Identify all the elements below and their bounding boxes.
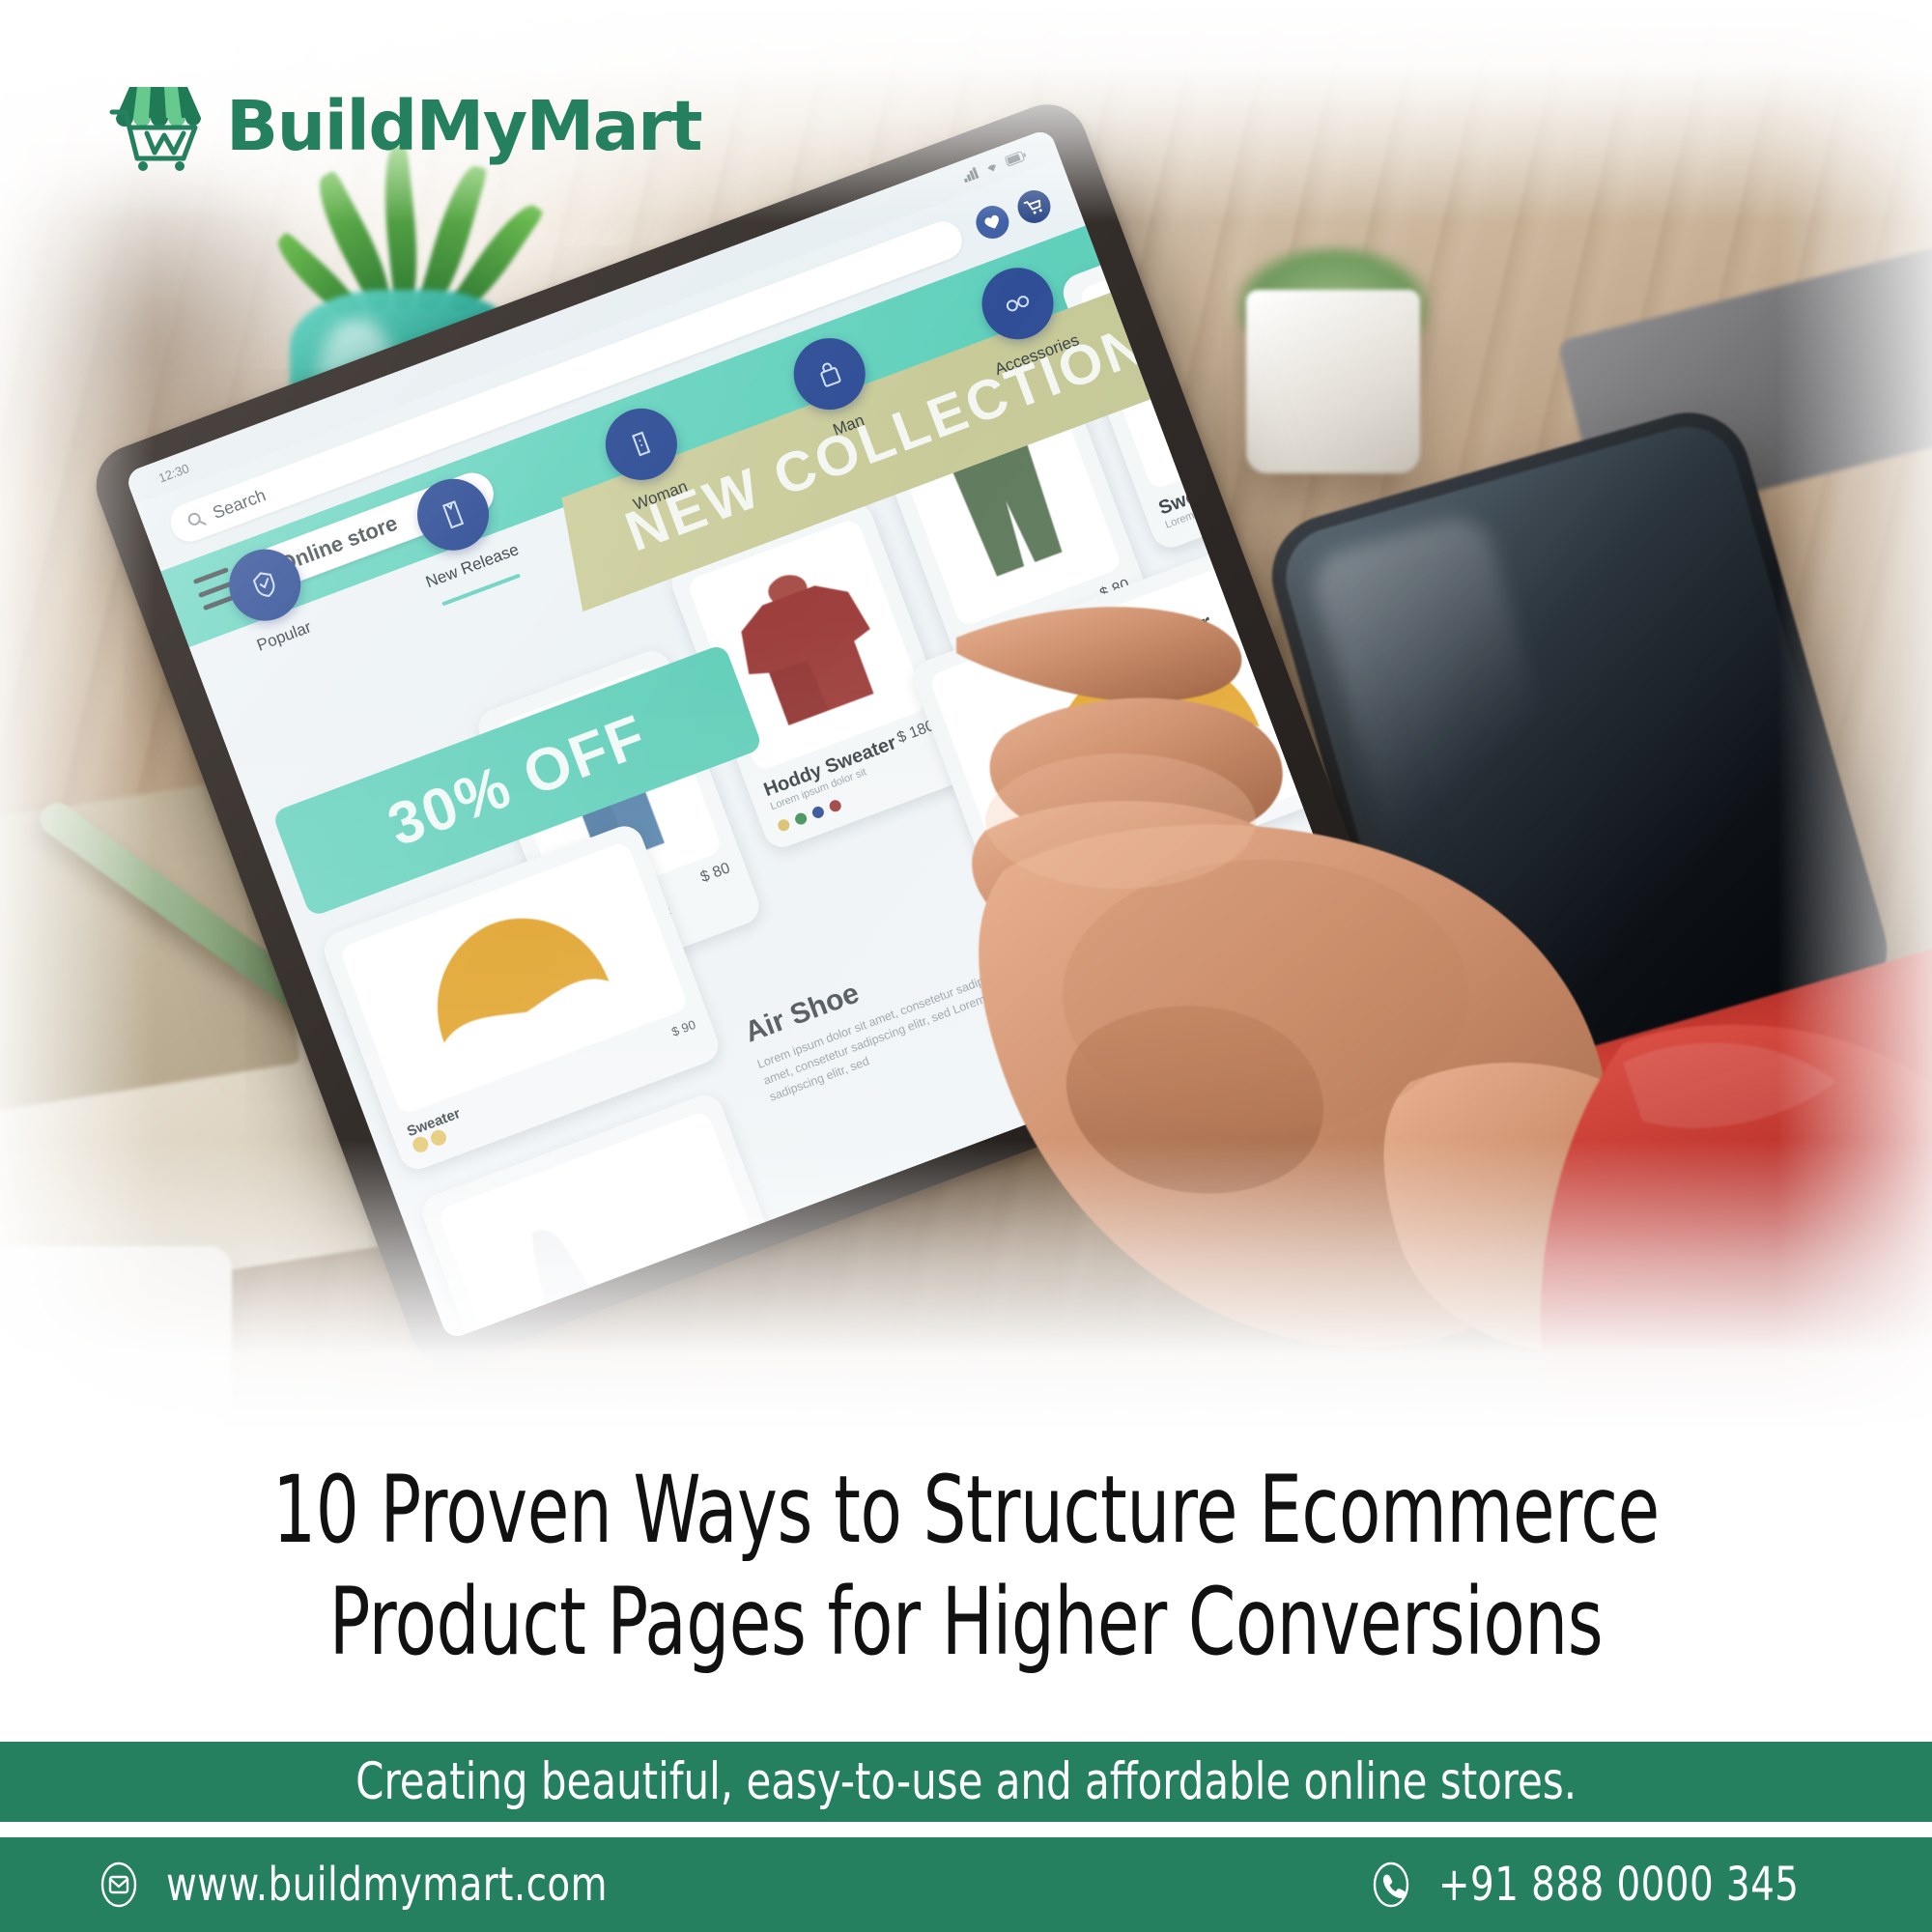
headline-line-1: 10 Proven Ways to Structure Ecommerce — [272, 1456, 1660, 1564]
headline-line-2: Product Pages for Higher Conversions — [174, 1566, 1758, 1678]
phone-circle-icon — [1367, 1861, 1415, 1909]
category-label: Woman — [631, 477, 691, 515]
footer-bar: www.buildmymart.com +91 888 0000 345 — [0, 1837, 1932, 1932]
category-label: Popular — [254, 617, 314, 655]
brand-logo[interactable]: BuildMyMart — [108, 79, 701, 172]
brand-name: BuildMyMart — [226, 92, 701, 160]
mail-circle-icon — [95, 1861, 143, 1909]
white-pot — [1246, 290, 1420, 473]
tagline-text: Creating beautiful, easy-to-use and affo… — [355, 1752, 1577, 1811]
swatch[interactable] — [777, 818, 791, 833]
tagline-band: Creating beautiful, easy-to-use and affo… — [0, 1742, 1932, 1822]
hero-photo: 12:30 Search — [0, 0, 1932, 1430]
swatch[interactable] — [793, 811, 808, 826]
footer-phone[interactable]: +91 888 0000 345 — [1367, 1858, 1839, 1912]
status-time: 12:30 — [156, 461, 191, 485]
shop-awning-cart-icon — [108, 79, 209, 172]
search-placeholder: Search — [210, 485, 269, 524]
band-divider — [0, 1822, 1932, 1837]
product-price: $ 80 — [698, 860, 732, 887]
search-icon — [185, 509, 208, 531]
website-text: www.buildmymart.com — [166, 1858, 608, 1912]
category-label: Man — [831, 411, 867, 440]
category-label: New Release — [423, 540, 522, 592]
footer-website[interactable]: www.buildmymart.com — [95, 1858, 657, 1912]
photo-fade-bottom — [0, 1140, 1932, 1430]
swatch[interactable] — [810, 805, 825, 819]
page-title: 10 Proven Ways to Structure Ecommerce Pr… — [174, 1454, 1758, 1678]
swatch[interactable] — [828, 799, 842, 813]
umbrella-image — [393, 875, 634, 1082]
phone-text: +91 888 0000 345 — [1438, 1858, 1799, 1912]
poster-canvas: 12:30 Search — [0, 0, 1932, 1932]
